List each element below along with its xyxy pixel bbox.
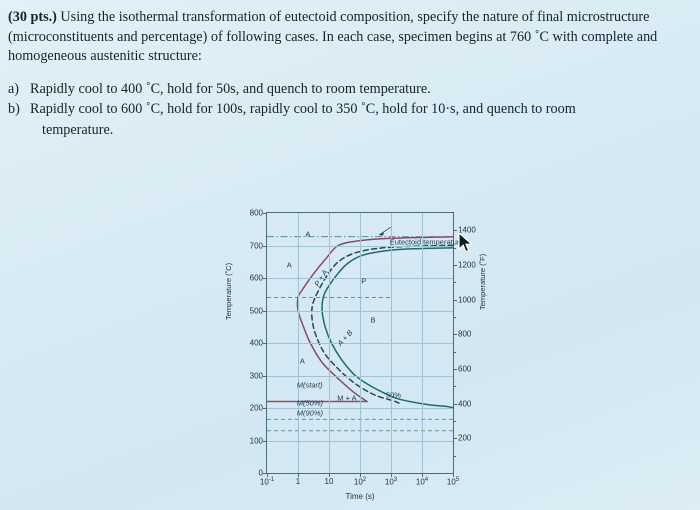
case-b-text: Rapidly cool to 600 ˚C, hold for 100s, r… bbox=[30, 100, 692, 120]
m-90-label: M(90%) bbox=[297, 409, 323, 418]
x-tick-label: 105 bbox=[447, 477, 459, 487]
y-tick-label-left: 500 bbox=[250, 306, 263, 315]
y-tick-mark bbox=[263, 343, 267, 344]
y-tick-mark bbox=[263, 213, 267, 214]
y-gridline bbox=[267, 408, 453, 409]
y-tick-mark bbox=[263, 441, 267, 442]
y-tick-label-left: 600 bbox=[250, 274, 263, 283]
y-tick-label-right: 200 bbox=[458, 434, 471, 443]
case-b-continuation: temperature. bbox=[42, 121, 692, 141]
mouse-pointer-icon bbox=[456, 232, 476, 254]
fifty-percent-label: 50% bbox=[386, 391, 401, 400]
y-tick-mark-right-minor bbox=[453, 386, 456, 387]
question-intro-line1: Using the isothermal transformation of e… bbox=[60, 9, 563, 25]
y-tick-label-right: 600 bbox=[458, 365, 471, 374]
y-tick-mark bbox=[263, 311, 267, 312]
question-case-list: a) Rapidly cool to 400 ˚C, hold for 50s,… bbox=[8, 80, 692, 141]
y-tick-label-left: 0 bbox=[259, 469, 263, 478]
y-tick-mark-right-minor bbox=[453, 352, 456, 353]
x-axis-label: Time (s) bbox=[345, 492, 374, 501]
pearlite-label: P bbox=[361, 276, 366, 285]
x-tick-label: 103 bbox=[385, 477, 397, 487]
eutectoid-temperature-label: Eutectoid temperature bbox=[390, 237, 464, 246]
m-start-label: M(start) bbox=[297, 380, 323, 389]
x-tick-label: 1 bbox=[296, 477, 300, 486]
bainite-label: B bbox=[371, 315, 376, 324]
y-tick-label-right: 800 bbox=[458, 330, 471, 339]
case-b-label: b) bbox=[8, 100, 30, 120]
x-tick-label: 104 bbox=[416, 477, 428, 487]
question-intro: (30 pts.) Using the isothermal transform… bbox=[8, 8, 692, 67]
case-a-label: a) bbox=[8, 80, 30, 100]
y-tick-mark-right bbox=[453, 369, 457, 370]
x-tick-label: 102 bbox=[354, 477, 366, 487]
y-tick-label-left: 300 bbox=[250, 371, 263, 380]
case-item-a: a) Rapidly cool to 400 ˚C, hold for 50s,… bbox=[8, 80, 692, 100]
y-tick-label-left: 800 bbox=[250, 209, 263, 218]
y-tick-mark-right bbox=[453, 404, 457, 405]
y-tick-mark-right-minor bbox=[453, 317, 456, 318]
y-tick-label-right: 1200 bbox=[458, 261, 476, 270]
y-tick-mark bbox=[263, 376, 267, 377]
y-tick-mark-right bbox=[453, 334, 457, 335]
y-tick-label-left: 100 bbox=[250, 436, 263, 445]
chart-plot-area: 10-1110102103104105800700600500400300200… bbox=[266, 212, 454, 474]
y-tick-label-left: 200 bbox=[250, 404, 263, 413]
eutectoid-leader-line bbox=[379, 227, 391, 235]
x-tick-label: 10-1 bbox=[260, 477, 274, 487]
ttt-diagram: 10-1110102103104105800700600500400300200… bbox=[240, 200, 484, 502]
y-tick-mark-right bbox=[453, 265, 457, 266]
chart-series-transformation-end bbox=[322, 248, 453, 408]
y-tick-mark bbox=[263, 408, 267, 409]
y-tick-mark bbox=[263, 473, 267, 474]
x-tick-label: 10 bbox=[325, 477, 334, 486]
y-tick-mark-right-minor bbox=[453, 282, 456, 283]
y-tick-mark-right-minor bbox=[453, 456, 456, 457]
m-plus-a-label: M + A bbox=[337, 393, 356, 402]
question-points: (30 pts.) bbox=[8, 9, 57, 25]
m-50-label: M(50%) bbox=[297, 398, 323, 407]
y-tick-label-right: 1000 bbox=[458, 295, 476, 304]
y-tick-mark-right bbox=[453, 300, 457, 301]
y-axis-label-left: Temperature (˚C) bbox=[224, 263, 233, 320]
y-tick-mark-right bbox=[453, 438, 457, 439]
question-text-block: (30 pts.) Using the isothermal transform… bbox=[8, 8, 692, 141]
y-tick-mark bbox=[263, 246, 267, 247]
y-tick-mark bbox=[263, 278, 267, 279]
case-item-b: b) Rapidly cool to 600 ˚C, hold for 100s… bbox=[8, 100, 692, 120]
y-tick-label-left: 700 bbox=[250, 241, 263, 250]
y-tick-label-right: 400 bbox=[458, 399, 471, 408]
austenite-label-left: A bbox=[287, 261, 292, 270]
y-gridline bbox=[267, 278, 453, 279]
y-gridline bbox=[267, 441, 453, 442]
y-axis-label-right: Temperature (˚F) bbox=[478, 254, 487, 310]
austenite-label-top: A bbox=[305, 229, 310, 238]
case-a-text: Rapidly cool to 400 ˚C, hold for 50s, an… bbox=[30, 80, 692, 100]
chart-series-fifty-percent-completion bbox=[312, 246, 453, 404]
y-tick-label-left: 400 bbox=[250, 339, 263, 348]
y-gridline bbox=[267, 311, 453, 312]
y-gridline bbox=[267, 343, 453, 344]
y-tick-mark-right-minor bbox=[453, 421, 456, 422]
austenite-label-lower: A bbox=[300, 357, 305, 366]
y-gridline bbox=[267, 376, 453, 377]
